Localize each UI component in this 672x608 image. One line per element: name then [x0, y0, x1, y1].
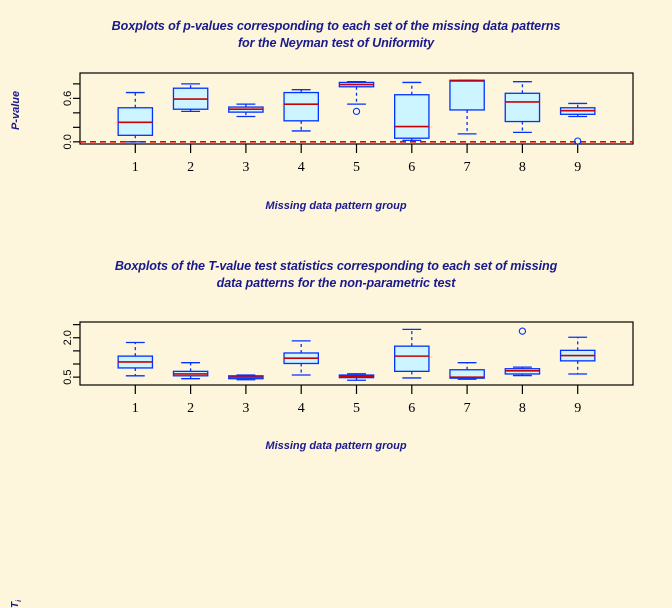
y-axis-tick-label: 0.5 [62, 369, 74, 384]
box-iqr [395, 95, 429, 138]
boxplot-box [395, 82, 429, 140]
x-axis-tick-label: 3 [242, 160, 249, 175]
x-axis-tick-label: 7 [464, 401, 471, 416]
x-axis-tick-label: 9 [574, 401, 581, 416]
x-axis-tick-label: 7 [464, 160, 471, 175]
x-axis-tick-label: 1 [132, 401, 139, 416]
box-iqr [505, 93, 539, 121]
x-axis-tick-label: 1 [132, 160, 139, 175]
boxplot-box [450, 80, 484, 134]
x-axis-tick-label: 4 [298, 401, 305, 416]
box-iqr [395, 346, 429, 371]
boxplot-box [118, 93, 152, 142]
x-axis-tick-label: 8 [519, 160, 526, 175]
x-axis-label-pvalue: Missing data pattern group [0, 200, 672, 212]
x-axis-tick-label: 2 [187, 160, 194, 175]
x-axis-tick-label: 4 [298, 160, 305, 175]
boxplot-box [284, 341, 318, 375]
boxplot-box [561, 103, 595, 144]
boxplot-box [505, 82, 539, 133]
boxplot-box [229, 375, 263, 380]
y-axis-label-tvalue-main: T [10, 602, 21, 608]
boxplot-box [505, 328, 539, 375]
boxplot-box [173, 84, 207, 112]
x-axis-tick-label: 6 [408, 401, 415, 416]
outlier-point [519, 328, 525, 334]
boxplot-box [450, 363, 484, 380]
y-axis-tick-label: 0.6 [62, 91, 74, 106]
panel-tvalue-chart: Boxplots of the T-value test statistics … [0, 240, 672, 480]
y-axis-tick-label: 2.0 [62, 330, 74, 345]
boxplot-box [339, 82, 373, 115]
x-axis-tick-label: 6 [408, 160, 415, 175]
boxplot-box [284, 90, 318, 131]
boxplot-box [229, 104, 263, 116]
x-axis-tick-label: 9 [574, 160, 581, 175]
x-axis-tick-label: 2 [187, 401, 194, 416]
x-axis-tick-label: 5 [353, 401, 360, 416]
x-axis-label-tvalue: Missing data pattern group [0, 440, 672, 452]
x-axis-tick-label: 8 [519, 401, 526, 416]
boxplot-box [395, 329, 429, 378]
panel-pvalue-chart: Boxplots of p-values corresponding to ea… [0, 0, 672, 240]
boxplot-box [118, 342, 152, 375]
y-axis-tick-label: 0.0 [62, 134, 74, 149]
box-iqr [284, 93, 318, 121]
x-axis-tick-label: 3 [242, 401, 249, 416]
boxplot-box [561, 337, 595, 374]
boxplot-box [173, 363, 207, 379]
outlier-point [353, 108, 359, 114]
y-axis-label-tvalue: Ti [10, 600, 23, 608]
boxplot-box [339, 374, 373, 381]
x-axis-tick-label: 5 [353, 160, 360, 175]
box-iqr [450, 80, 484, 110]
y-axis-label-tvalue-sub: i [16, 600, 23, 602]
